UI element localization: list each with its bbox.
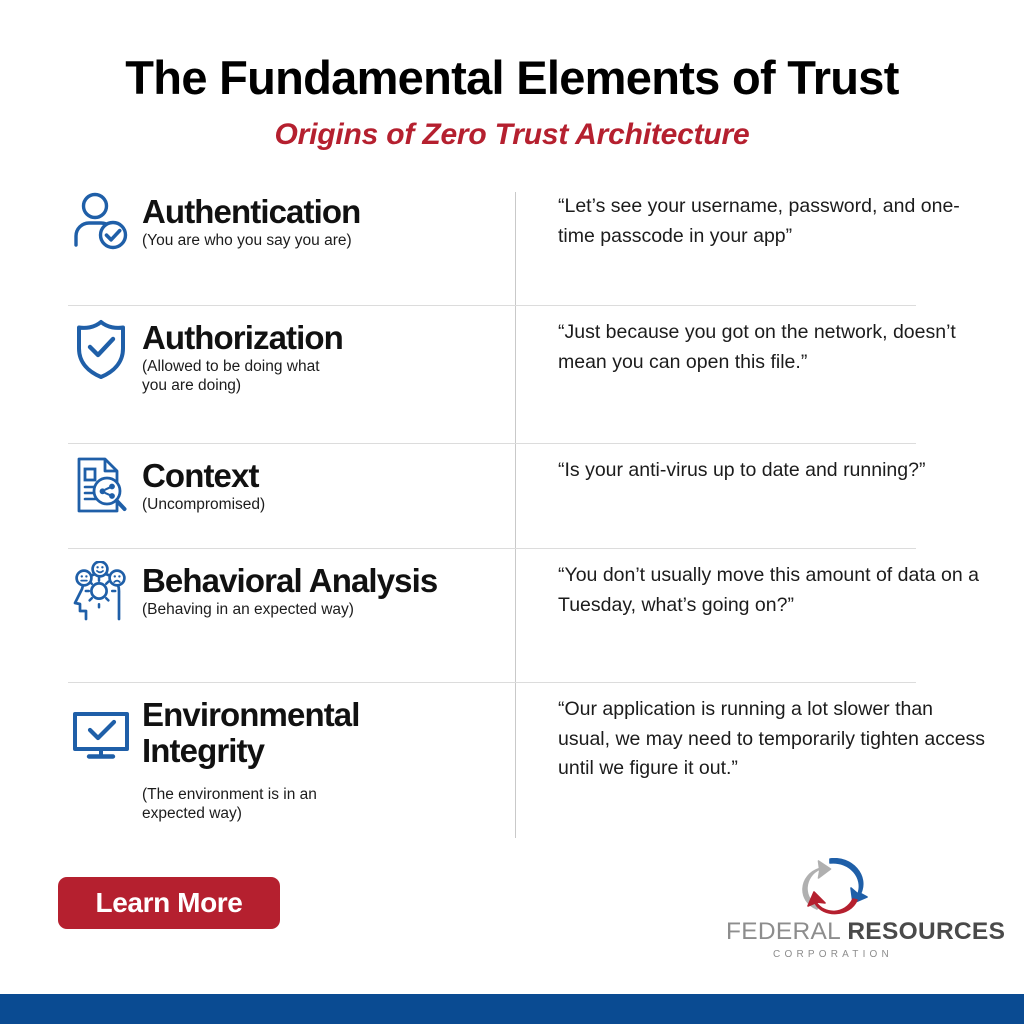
- bottom-accent-bar: [0, 994, 1024, 1024]
- table-row: Behavioral Analysis (Behaving in an expe…: [68, 561, 916, 686]
- row-divider: [68, 305, 916, 306]
- learn-more-button[interactable]: Learn More: [58, 877, 280, 929]
- shield-check-icon: [68, 318, 134, 380]
- element-cell: Context (Uncompromised): [68, 456, 515, 515]
- element-quote: “Is your anti-virus up to date and runni…: [558, 456, 988, 486]
- element-description: (The environment is in an expected way): [142, 786, 360, 824]
- table-row: Environmental Integrity (The environment…: [68, 695, 916, 838]
- header: The Fundamental Elements of Trust Origin…: [0, 0, 1024, 152]
- element-description: (Behaving in an expected way): [142, 601, 437, 620]
- element-cell: Behavioral Analysis (Behaving in an expe…: [68, 561, 515, 623]
- logo-wordmark: FEDERAL RESOURCES: [726, 918, 940, 946]
- table-row: Authorization (Allowed to be doing what …: [68, 318, 916, 449]
- cyclical-arrows-icon: [726, 858, 940, 916]
- element-description: (Uncompromised): [142, 496, 265, 515]
- element-name: Authorization: [142, 320, 343, 356]
- element-name: Authentication: [142, 194, 360, 230]
- row-divider: [68, 548, 916, 549]
- element-quote: “Our application is running a lot slower…: [558, 695, 988, 784]
- element-description: (Allowed to be doing what you are doing): [142, 358, 343, 396]
- element-description: (You are who you say you are): [142, 232, 360, 251]
- element-name: Environmental Integrity: [142, 697, 360, 768]
- monitor-check-icon: [68, 695, 134, 761]
- page-title: The Fundamental Elements of Trust: [0, 52, 1024, 104]
- element-cell: Environmental Integrity (The environment…: [68, 695, 515, 824]
- element-quote: “You don’t usually move this amount of d…: [558, 561, 988, 620]
- person-check-icon: [68, 192, 134, 250]
- trust-elements-table: Authentication (You are who you say you …: [68, 192, 916, 838]
- document-magnifier-share-icon: [68, 456, 134, 514]
- federal-resources-logo: FEDERAL RESOURCES CORPORATION: [726, 858, 940, 960]
- page-subtitle: Origins of Zero Trust Architecture: [0, 118, 1024, 152]
- row-divider: [68, 682, 916, 683]
- element-quote: “Just because you got on the network, do…: [558, 318, 988, 377]
- element-cell: Authentication (You are who you say you …: [68, 192, 515, 251]
- head-gear-faces-icon: [68, 561, 134, 623]
- element-cell: Authorization (Allowed to be doing what …: [68, 318, 515, 395]
- element-name: Behavioral Analysis: [142, 563, 437, 599]
- element-name: Context: [142, 458, 265, 494]
- logo-word-federal: FEDERAL: [726, 918, 840, 945]
- table-row: Authentication (You are who you say you …: [68, 192, 916, 305]
- logo-subtitle: CORPORATION: [726, 949, 940, 960]
- logo-word-resources: RESOURCES: [847, 918, 1005, 945]
- element-quote: “Let’s see your username, password, and …: [558, 192, 988, 251]
- row-divider: [68, 443, 916, 444]
